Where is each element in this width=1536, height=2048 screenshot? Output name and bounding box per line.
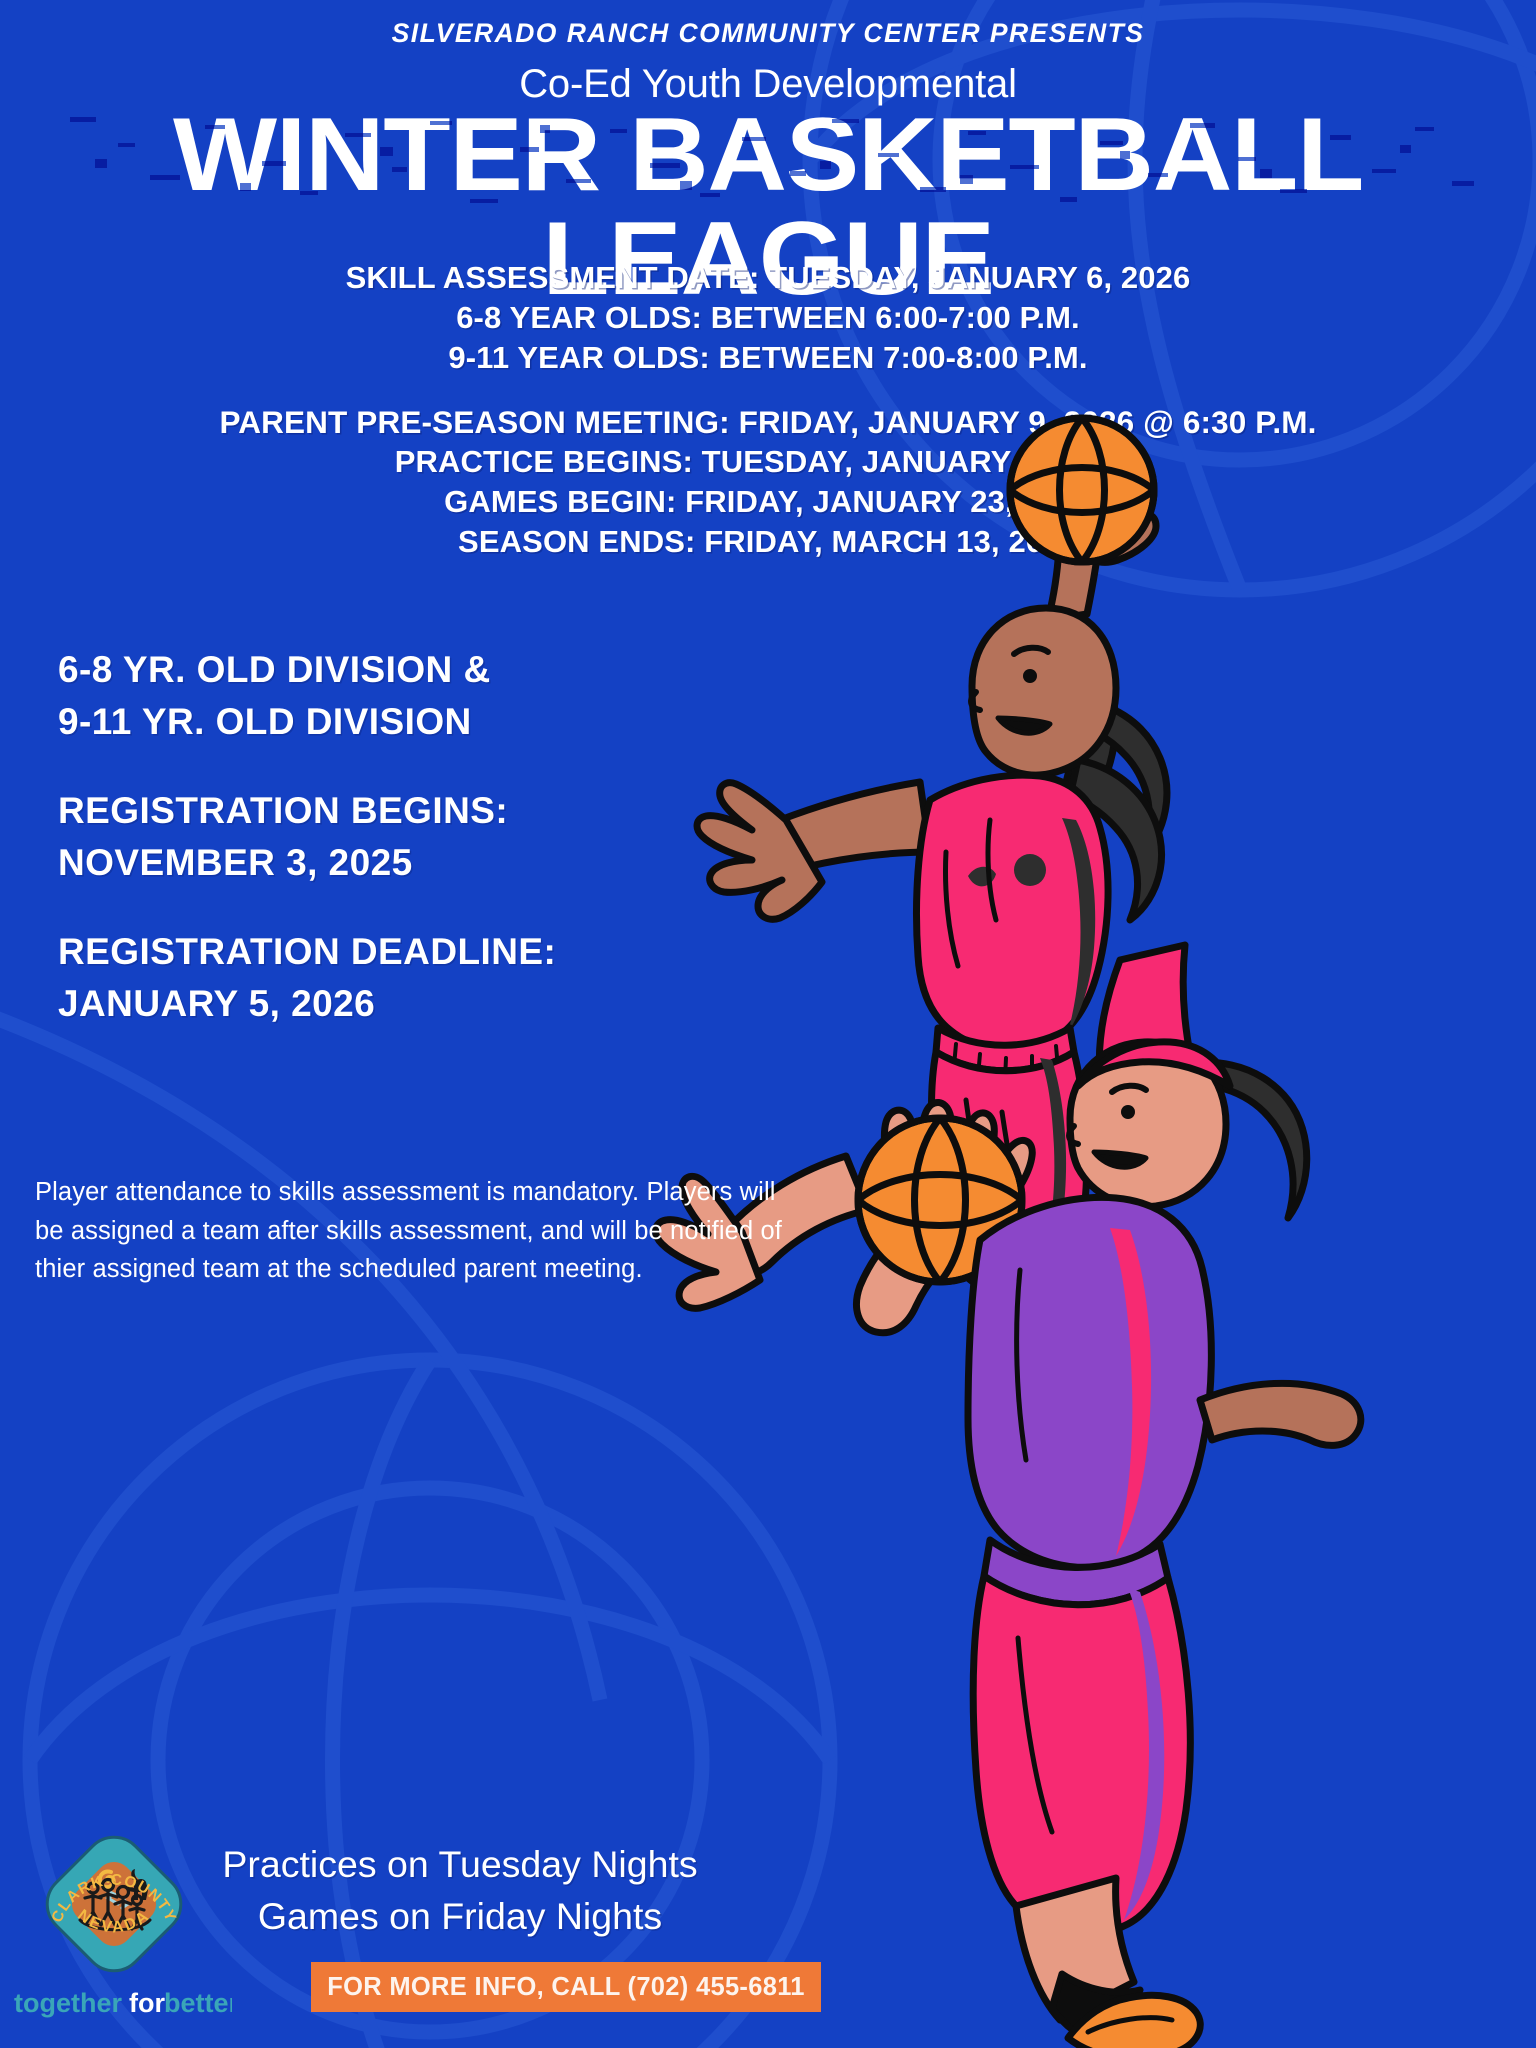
- games-line: Games on Friday Nights: [150, 1890, 770, 1942]
- division-line-2: 9-11 YR. OLD DIVISION: [58, 696, 718, 748]
- practices-line: Practices on Tuesday Nights: [150, 1838, 770, 1890]
- schedule-line: 9-11 YEAR OLDS: BETWEEN 7:00-8:00 P.M.: [0, 338, 1536, 378]
- schedule-line: 6-8 YEAR OLDS: BETWEEN 6:00-7:00 P.M.: [0, 298, 1536, 338]
- more-info-banner[interactable]: FOR MORE INFO, CALL (702) 455-6811: [311, 1962, 821, 2012]
- together-for-better-tagline: together for better: [12, 1986, 232, 2020]
- headline-container: WINTER BASKETBALL LEAGUE: [0, 103, 1536, 213]
- assessment-schedule-block: SKILL ASSESSMENT DATE: TUESDAY, JANUARY …: [0, 258, 1536, 378]
- divisions-and-registration-block: 6-8 YR. OLD DIVISION & 9-11 YR. OLD DIVI…: [58, 644, 718, 1030]
- tagline-better: better: [164, 1988, 232, 2018]
- division-line-1: 6-8 YR. OLD DIVISION &: [58, 644, 718, 696]
- spacer: [58, 889, 718, 926]
- registration-begins-label: REGISTRATION BEGINS:: [58, 785, 718, 837]
- flyer-canvas: SILVERADO RANCH COMMUNITY CENTER PRESENT…: [0, 0, 1536, 2048]
- assessment-notice-text: Player attendance to skills assessment i…: [35, 1173, 795, 1289]
- presenter-line: SILVERADO RANCH COMMUNITY CENTER PRESENT…: [0, 18, 1536, 49]
- schedule-line: SKILL ASSESSMENT DATE: TUESDAY, JANUARY …: [0, 258, 1536, 298]
- more-info-text: FOR MORE INFO, CALL (702) 455-6811: [327, 1973, 805, 2002]
- tagline-together: together: [14, 1988, 122, 2018]
- registration-deadline-date: JANUARY 5, 2026: [58, 978, 718, 1030]
- tagline-for: for: [129, 1988, 165, 2018]
- registration-begins-date: NOVEMBER 3, 2025: [58, 837, 718, 889]
- spacer: [58, 748, 718, 785]
- registration-deadline-label: REGISTRATION DEADLINE:: [58, 926, 718, 978]
- practice-game-nights-block: Practices on Tuesday Nights Games on Fri…: [150, 1838, 770, 1942]
